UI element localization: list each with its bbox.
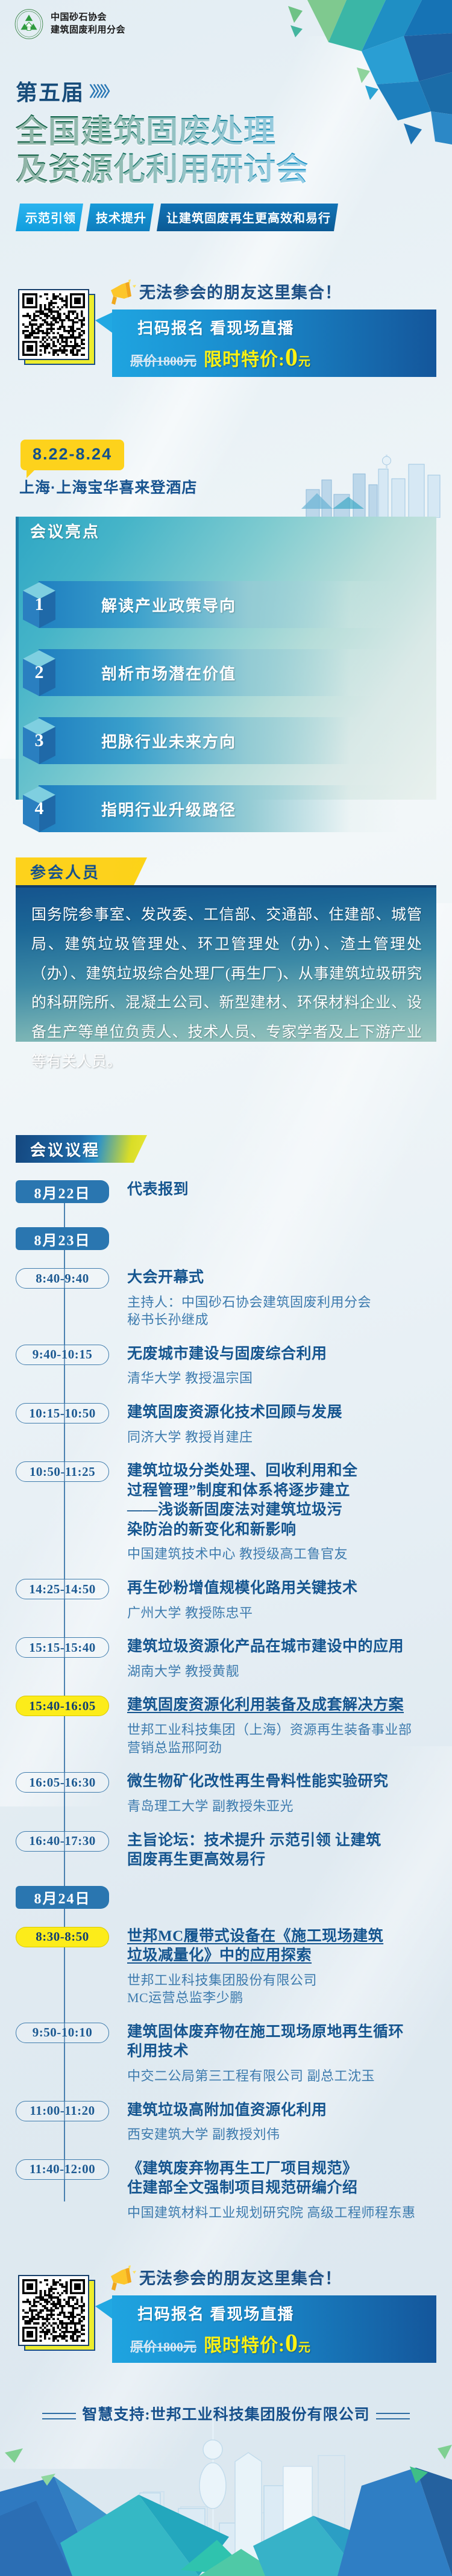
- agenda-time-badge: 11:40-12:00: [16, 2159, 109, 2180]
- tagline-row: 示范引领 技术提升 让建筑固废再生更高效和易行: [16, 204, 338, 231]
- agenda-session-title: 再生砂粉增值规模化路用关键技术: [127, 1579, 450, 1599]
- agenda-title-line: 建筑固废资源化利用装备及成套解决方案: [127, 1696, 450, 1716]
- agenda-speaker-line: 西安建筑大学 副教授刘伟: [127, 2126, 450, 2144]
- chevron-right-icon: 〉〉〉〉〉: [89, 79, 115, 104]
- agenda-badge-wrap: 9:50-10:10: [16, 2023, 109, 2043]
- agenda-session-title: 《建筑废弃物再生工厂项目规范》住建部全文强制项目规范研编介绍: [127, 2159, 450, 2198]
- brand-line-1: 中国砂石协会: [51, 11, 125, 24]
- registration-headline-reflection: 无法参会的朋友这里集合！: [139, 2271, 342, 2283]
- agenda-speaker-line: MC运营总监李少鹏: [127, 1989, 450, 2007]
- callout-tail: [95, 312, 113, 334]
- page-title: 全国建筑固废处理 及资源化利用研讨会: [16, 113, 432, 188]
- callout-tail: [95, 2298, 113, 2319]
- registration-headline-reflection: 无法参会的朋友这里集合！: [139, 285, 342, 297]
- agenda-session-title: 世邦MC履带式设备在《施工现场建筑垃圾减量化》中的应用探索: [127, 1927, 450, 1966]
- agenda-session-speaker: 广州大学 教授陈忠平: [127, 1604, 450, 1622]
- agenda-badge-wrap: 9:40-10:15: [16, 1345, 109, 1365]
- agenda-session-speaker: 青岛理工大学 副教授朱亚光: [127, 1797, 450, 1815]
- original-price: 原价1800元: [130, 2336, 196, 2356]
- agenda-session-title: 建筑固体废弃物在施工现场原地再生循环利用技术: [127, 2023, 450, 2062]
- highlight-label: 指明行业升级路径: [101, 785, 236, 832]
- agenda-time-badge: 8:30-8:50: [16, 1927, 109, 1947]
- agenda-title-line: 建筑固体废弃物在施工现场原地再生循环: [127, 2023, 450, 2042]
- agenda-title-line: 《建筑废弃物再生工厂项目规范》: [127, 2159, 450, 2179]
- attendees-panel: 国务院参事室、发改委、工信部、交通部、住建部、城管局、建筑垃圾管理处、环卫管理处…: [16, 885, 436, 1042]
- megaphone-icon: [107, 2265, 137, 2292]
- special-price: 限时特价:0元: [204, 343, 311, 372]
- agenda-session-title: 主旨论坛：技术提升 示范引领 让建筑固废再生更高效易行: [127, 1831, 450, 1870]
- edition-label: 第五届: [16, 82, 84, 104]
- agenda-session-title: 代表报到: [127, 1180, 450, 1200]
- registration-cta: 扫码报名 看现场直播: [137, 2302, 295, 2324]
- agenda-title-line: 垃圾减量化》中的应用探索: [127, 1946, 450, 1966]
- agenda-session-title: 建筑固废资源化技术回顾与发展: [127, 1403, 450, 1423]
- agenda-title-line: 建筑固废资源化技术回顾与发展: [127, 1403, 450, 1423]
- agenda-body: 再生砂粉增值规模化路用关键技术广州大学 教授陈忠平: [127, 1579, 450, 1622]
- agenda-badge-wrap: 10:15-10:50: [16, 1403, 109, 1423]
- highlight-number: 4: [29, 785, 49, 832]
- special-price: 限时特价:0元: [204, 2329, 311, 2358]
- attendees-body: 国务院参事室、发改委、工信部、交通部、住建部、城管局、建筑垃圾管理处、环卫管理处…: [31, 901, 422, 1077]
- agenda-day-badge: 8月22日: [16, 1180, 109, 1203]
- agenda-title-line: 代表报到: [127, 1180, 450, 1200]
- agenda-time-badge: 8:40-9:40: [16, 1268, 109, 1289]
- agenda-body: 建筑固废资源化利用装备及成套解决方案世邦工业科技集团（上海）资源再生装备事业部营…: [127, 1696, 450, 1756]
- qr-pixels: [22, 2279, 85, 2342]
- tagline-pill-1: 示范引领: [16, 204, 83, 231]
- megaphone-icon: [107, 279, 137, 306]
- agenda-title-line: 固废再生更高效易行: [127, 1850, 450, 1870]
- recycle-house-logo-icon: ♲: [13, 8, 45, 40]
- registration-card[interactable]: 扫码报名 看现场直播 原价1800元 限时特价:0元: [112, 2295, 436, 2363]
- agenda-body: 微生物矿化改性再生骨料性能实验研究青岛理工大学 副教授朱亚光: [127, 1772, 450, 1815]
- agenda-session-speaker: 湖南大学 教授黄靓: [127, 1663, 450, 1681]
- qr-box[interactable]: [18, 2275, 89, 2346]
- registration-price-row: 原价1800元 限时特价:0元: [130, 2329, 311, 2358]
- agenda-title-line: 世邦MC履带式设备在《施工现场建筑: [127, 1927, 450, 1947]
- agenda-title-line: 无废城市建设与固废综合利用: [127, 1345, 450, 1364]
- qr-pixels: [22, 293, 85, 356]
- skyline-decoration: [301, 443, 452, 518]
- agenda-session-speaker: 清华大学 教授温宗国: [127, 1369, 450, 1387]
- brand-line-2: 建筑固废利用分会: [51, 24, 125, 37]
- highlight-number: 2: [29, 649, 49, 696]
- agenda-speaker-line: 同济大学 教授肖建庄: [127, 1428, 450, 1446]
- agenda-speaker-line: 中国建筑技术中心 教授级高工鲁官友: [127, 1545, 450, 1563]
- special-price-unit: 元: [298, 355, 311, 369]
- agenda-body: 建筑固废资源化技术回顾与发展同济大学 教授肖建庄: [127, 1403, 450, 1446]
- section-title-attendees: 参会人员: [16, 860, 100, 883]
- agenda-session-speaker: 世邦工业科技集团股份有限公司MC运营总监李少鹏: [127, 1971, 450, 2007]
- agenda-badge-wrap: 8:30-8:50: [16, 1927, 109, 1947]
- agenda-time-badge: 14:25-14:50: [16, 1579, 109, 1599]
- agenda-day-badge: 8月24日: [16, 1886, 109, 1909]
- agenda-day-badge: 8月23日: [16, 1227, 109, 1250]
- highlight-number: 3: [29, 717, 49, 764]
- agenda-body: 代表报到: [127, 1180, 450, 1200]
- agenda-time-badge: 9:50-10:10: [16, 2023, 109, 2043]
- highlight-label: 把脉行业未来方向: [101, 717, 236, 764]
- agenda-speaker-line: 青岛理工大学 副教授朱亚光: [127, 1797, 450, 1815]
- special-price-unit: 元: [298, 2341, 311, 2354]
- special-price-label: 限时特价:: [204, 2336, 285, 2356]
- agenda-title-line: 再生砂粉增值规模化路用关键技术: [127, 1579, 450, 1599]
- bottom-skyline-art: [0, 2395, 452, 2576]
- agenda-badge-wrap: 14:25-14:50: [16, 1579, 109, 1599]
- event-date-badge: 8.22-8.24: [20, 440, 124, 470]
- agenda-badge-wrap: 8月23日: [16, 1227, 109, 1250]
- agenda-badge-wrap: 11:00-11:20: [16, 2101, 109, 2121]
- agenda-session-speaker: 世邦工业科技集团（上海）资源再生装备事业部营销总监邢阿劲: [127, 1721, 450, 1756]
- agenda-time-badge: 10:15-10:50: [16, 1403, 109, 1423]
- panel-edge: [16, 517, 19, 800]
- agenda-time-badge: 15:40-16:05: [16, 1696, 109, 1716]
- agenda-body: 主旨论坛：技术提升 示范引领 让建筑固废再生更高效易行: [127, 1831, 450, 1870]
- special-price-value: 0: [285, 2330, 298, 2357]
- agenda-session-title: 微生物矿化改性再生骨料性能实验研究: [127, 1772, 450, 1792]
- svg-text:♲: ♲: [27, 25, 30, 30]
- tagline-pill-3: 让建筑固废再生更高效和易行: [157, 204, 338, 231]
- agenda-title-line: 过程管理”制度和体系将逐步建立: [127, 1481, 450, 1501]
- agenda-time-badge: 10:50-11:25: [16, 1461, 109, 1482]
- agenda-title-line: 染防治的新变化和新影响: [127, 1520, 450, 1540]
- agenda-title-line: 住建部全文强制项目规范研编介绍: [127, 2179, 450, 2198]
- agenda-badge-wrap: 11:40-12:00: [16, 2159, 109, 2180]
- brand-header: ♲ 中国砂石协会 建筑固废利用分会: [13, 8, 125, 40]
- agenda-title-line: ——浅谈新固废法对建筑垃圾污: [127, 1501, 450, 1520]
- agenda-session-title: 建筑固废资源化利用装备及成套解决方案: [127, 1696, 450, 1716]
- agenda-title-line: 主旨论坛：技术提升 示范引领 让建筑: [127, 1831, 450, 1851]
- agenda-speaker-line: 世邦工业科技集团（上海）资源再生装备事业部: [127, 1721, 450, 1739]
- edition-row: 第五届 〉〉〉〉〉: [16, 79, 115, 104]
- agenda-time-badge: 11:00-11:20: [16, 2101, 109, 2121]
- highlight-label: 解读产业政策导向: [101, 581, 236, 628]
- qr-box[interactable]: [18, 289, 89, 360]
- special-price-value: 0: [285, 344, 298, 372]
- agenda-badge-wrap: 10:50-11:25: [16, 1461, 109, 1482]
- agenda-time-badge: 9:40-10:15: [16, 1345, 109, 1365]
- section-title-agenda: 会议议程: [16, 1138, 100, 1160]
- agenda-session-title: 建筑垃圾分类处理、回收利用和全过程管理”制度和体系将逐步建立——浅谈新固废法对建…: [127, 1461, 450, 1540]
- agenda-body: 《建筑废弃物再生工厂项目规范》住建部全文强制项目规范研编介绍中国建筑材料工业规划…: [127, 2159, 450, 2222]
- agenda-session-title: 无废城市建设与固废综合利用: [127, 1345, 450, 1364]
- highlight-label: 剖析市场潜在价值: [101, 649, 236, 696]
- agenda-session-speaker: 中国建筑材料工业规划研究院 高级工程师程东惠: [127, 2204, 450, 2222]
- agenda-title-line: 利用技术: [127, 2042, 450, 2062]
- event-venue: 上海·上海宝华喜来登酒店: [19, 476, 197, 497]
- agenda-session-speaker: 主持人：中国砂石协会建筑固废利用分会秘书长孙继成: [127, 1293, 450, 1329]
- agenda-badge-wrap: 8:40-9:40: [16, 1268, 109, 1289]
- agenda-session-speaker: 中国建筑技术中心 教授级高工鲁官友: [127, 1545, 450, 1563]
- agenda-session-title: 建筑垃圾资源化产品在城市建设中的应用: [127, 1637, 450, 1657]
- registration-card[interactable]: 扫码报名 看现场直播 原价1800元 限时特价:0元: [112, 310, 436, 377]
- agenda-session-title: 大会开幕式: [127, 1268, 450, 1288]
- section-header-attendees: 参会人员: [16, 857, 172, 885]
- registration-banner-bottom[interactable]: 无法参会的朋友这里集合！ 无法参会的朋友这里集合！ 扫码报名 看现场直播 原价1…: [16, 2264, 436, 2375]
- agenda-time-badge: 16:40-17:30: [16, 1831, 109, 1852]
- agenda-speaker-line: 营销总监邢阿劲: [127, 1739, 450, 1757]
- agenda-badge-wrap: 15:15-15:40: [16, 1637, 109, 1658]
- agenda-body: 建筑垃圾资源化产品在城市建设中的应用湖南大学 教授黄靓: [127, 1637, 450, 1680]
- agenda-title-line: 建筑垃圾资源化产品在城市建设中的应用: [127, 1637, 450, 1657]
- agenda-body: 建筑固体废弃物在施工现场原地再生循环利用技术中交二公局第三工程有限公司 副总工沈…: [127, 2023, 450, 2085]
- section-header-agenda: 会议议程: [16, 1135, 172, 1163]
- agenda-body: 无废城市建设与固废综合利用清华大学 教授温宗国: [127, 1345, 450, 1387]
- agenda-speaker-line: 世邦工业科技集团股份有限公司: [127, 1971, 450, 1990]
- section-title-highlights: 会议亮点: [16, 520, 100, 542]
- agenda-title-line: 建筑垃圾分类处理、回收利用和全: [127, 1461, 450, 1481]
- agenda-speaker-line: 秘书长孙继成: [127, 1311, 450, 1329]
- agenda-session-speaker: 中交二公局第三工程有限公司 副总工沈玉: [127, 2067, 450, 2085]
- agenda-badge-wrap: 8月22日: [16, 1180, 109, 1203]
- agenda-badge-wrap: 16:40-17:30: [16, 1831, 109, 1852]
- title-line-1: 全国建筑固废处理: [16, 113, 432, 151]
- registration-qr-code[interactable]: [18, 2275, 92, 2348]
- agenda-title-line: 大会开幕式: [127, 1268, 450, 1288]
- agenda-session-speaker: 西安建筑大学 副教授刘伟: [127, 2126, 450, 2144]
- agenda-body: 建筑垃圾分类处理、回收利用和全过程管理”制度和体系将逐步建立——浅谈新固废法对建…: [127, 1461, 450, 1563]
- agenda-speaker-line: 广州大学 教授陈忠平: [127, 1604, 450, 1622]
- special-price-label: 限时特价:: [204, 350, 285, 370]
- registration-cta: 扫码报名 看现场直播: [137, 316, 295, 338]
- agenda-speaker-line: 主持人：中国砂石协会建筑固废利用分会: [127, 1293, 450, 1311]
- tagline-pill-2: 技术提升: [86, 204, 154, 231]
- brand-name: 中国砂石协会 建筑固废利用分会: [51, 11, 125, 36]
- agenda-session-title: 建筑垃圾高附加值资源化利用: [127, 2101, 450, 2121]
- agenda-badge-wrap: 16:05-16:30: [16, 1772, 109, 1793]
- registration-qr-code[interactable]: [18, 289, 92, 362]
- agenda-time-badge: 15:15-15:40: [16, 1637, 109, 1658]
- original-price: 原价1800元: [130, 350, 196, 370]
- highlight-number: 1: [29, 581, 49, 628]
- agenda-badge-wrap: 15:40-16:05: [16, 1696, 109, 1716]
- poster-root: ♲ 中国砂石协会 建筑固废利用分会 第五届 〉〉〉〉〉 全国建筑固废处理 及资源…: [0, 0, 452, 2576]
- agenda-session-speaker: 同济大学 教授肖建庄: [127, 1428, 450, 1446]
- agenda-speaker-line: 中国建筑材料工业规划研究院 高级工程师程东惠: [127, 2204, 450, 2222]
- agenda-speaker-line: 清华大学 教授温宗国: [127, 1369, 450, 1387]
- agenda-badge-wrap: 8月24日: [16, 1886, 109, 1909]
- title-line-2: 及资源化利用研讨会: [16, 151, 432, 189]
- registration-banner-top[interactable]: 无法参会的朋友这里集合！ 无法参会的朋友这里集合！ 扫码报名 看现场直播 原价1…: [16, 278, 436, 390]
- agenda-body: 大会开幕式主持人：中国砂石协会建筑固废利用分会秘书长孙继成: [127, 1268, 450, 1329]
- agenda-title-line: 微生物矿化改性再生骨料性能实验研究: [127, 1772, 450, 1792]
- agenda-time-badge: 16:05-16:30: [16, 1772, 109, 1793]
- agenda-body: 建筑垃圾高附加值资源化利用西安建筑大学 副教授刘伟: [127, 2101, 450, 2144]
- agenda-title-line: 建筑垃圾高附加值资源化利用: [127, 2101, 450, 2121]
- agenda-body: 世邦MC履带式设备在《施工现场建筑垃圾减量化》中的应用探索世邦工业科技集团股份有…: [127, 1927, 450, 2007]
- agenda-speaker-line: 中交二公局第三工程有限公司 副总工沈玉: [127, 2067, 450, 2085]
- agenda-speaker-line: 湖南大学 教授黄靓: [127, 1663, 450, 1681]
- registration-price-row: 原价1800元 限时特价:0元: [130, 343, 311, 372]
